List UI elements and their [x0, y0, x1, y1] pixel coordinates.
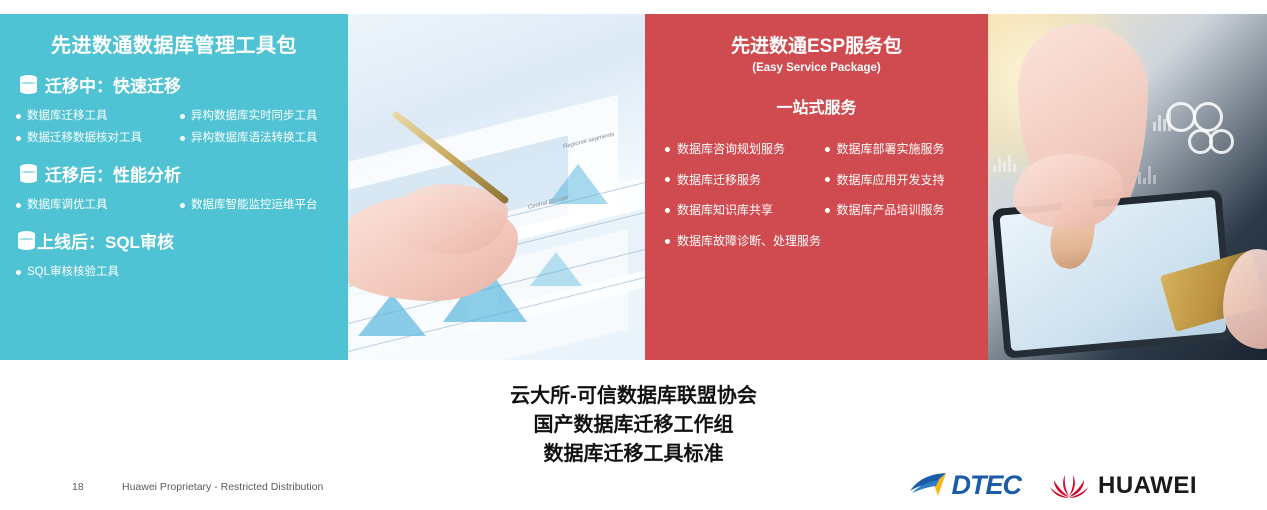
- overlay-ring-icon: [1209, 129, 1234, 154]
- list-item[interactable]: 数据库部署实施服务: [817, 134, 977, 165]
- dtec-arrow-icon: [908, 471, 950, 501]
- bullet-icon: [825, 208, 830, 213]
- photo-hand-touching-tablet-with-data-overlay: [988, 14, 1267, 360]
- dtec-logo: DTEC: [908, 470, 1022, 501]
- database-icon: [20, 164, 37, 184]
- right-panel-subtitle: (Easy Service Package): [657, 62, 976, 74]
- huawei-wordmark: HUAWEI: [1098, 472, 1197, 500]
- list-item[interactable]: 数据库咨询规划服务: [657, 134, 817, 165]
- caption-line-1: 云大所-可信数据库联盟协会: [0, 382, 1267, 411]
- tool-list-migrating: 数据库迁移工具 异构数据库实时同步工具 数据迁移数据核对工具 异构数据库语法转换…: [10, 105, 338, 149]
- bullet-icon: [665, 239, 670, 244]
- list-item[interactable]: 数据迁移数据核对工具: [10, 127, 174, 149]
- caption-block: 云大所-可信数据库联盟协会 国产数据库迁移工作组 数据库迁移工具标准: [0, 382, 1267, 469]
- list-item[interactable]: SQL审核核验工具: [10, 261, 338, 283]
- phase-label: 迁移中：快速迁移: [45, 72, 181, 97]
- service-label: 数据库产品培训服务: [837, 202, 945, 219]
- service-label: 数据库部署实施服务: [837, 141, 945, 158]
- bullet-icon: [16, 114, 21, 119]
- bullet-icon: [16, 270, 21, 275]
- phase-heading-migrating: 迁移中：快速迁移: [20, 72, 338, 97]
- service-label: 数据库咨询规划服务: [677, 141, 785, 158]
- tool-list-after-golive: SQL审核核验工具: [10, 261, 338, 283]
- dtec-wordmark: DTEC: [952, 470, 1022, 501]
- caption-line-3: 数据库迁移工具标准: [0, 440, 1267, 469]
- tool-label: 异构数据库实时同步工具: [191, 108, 318, 124]
- list-item[interactable]: 数据库知识库共享: [657, 195, 817, 226]
- right-panel-title: 先进数通ESP服务包: [657, 36, 976, 59]
- huawei-logo: HUAWEI: [1049, 472, 1197, 500]
- left-panel-title: 先进数通数据库管理工具包: [10, 34, 338, 58]
- database-icon: [20, 75, 37, 95]
- tool-list-after-migration: 数据库调优工具 数据库智能监控运维平台: [10, 194, 338, 216]
- list-item[interactable]: 数据库智能监控运维平台: [174, 194, 338, 216]
- slide-footer: 18 Huawei Proprietary - Restricted Distr…: [0, 478, 1267, 510]
- bullet-icon: [665, 208, 670, 213]
- list-item[interactable]: 数据库产品培训服务: [817, 195, 977, 226]
- confidentiality-notice: Huawei Proprietary - Restricted Distribu…: [122, 481, 323, 493]
- phase-heading-after-migration: 迁移后：性能分析: [20, 161, 338, 186]
- bullet-icon: [16, 203, 21, 208]
- service-label: 数据库故障诊断、处理服务: [677, 233, 821, 250]
- database-icon: [18, 231, 35, 251]
- bullet-icon: [180, 114, 185, 119]
- tool-label: 数据库迁移工具: [27, 108, 108, 124]
- tool-label: 异构数据库语法转换工具: [191, 130, 318, 146]
- list-item[interactable]: 数据库调优工具: [10, 194, 174, 216]
- content-band: 先进数通数据库管理工具包 迁移中：快速迁移 数据库迁移工具 异构数据库实时同步工…: [0, 14, 1267, 360]
- list-item[interactable]: 异构数据库实时同步工具: [174, 105, 338, 127]
- service-list: 数据库咨询规划服务 数据库部署实施服务 数据库迁移服务 数据库应用开发支持 数据…: [657, 134, 976, 257]
- list-item[interactable]: 异构数据库语法转换工具: [174, 127, 338, 149]
- list-item[interactable]: 数据库故障诊断、处理服务: [657, 226, 976, 257]
- tool-label: 数据迁移数据核对工具: [27, 130, 142, 146]
- bullet-icon: [16, 136, 21, 141]
- left-toolkit-panel: 先进数通数据库管理工具包 迁移中：快速迁移 数据库迁移工具 异构数据库实时同步工…: [0, 14, 348, 360]
- service-label: 数据库迁移服务: [677, 172, 761, 189]
- logo-group: DTEC HUAWEI: [908, 470, 1198, 501]
- service-label: 数据库应用开发支持: [837, 172, 945, 189]
- tool-label: 数据库智能监控运维平台: [191, 197, 318, 213]
- right-service-panel: 先进数通ESP服务包 (Easy Service Package) 一站式服务 …: [645, 14, 988, 360]
- caption-line-2: 国产数据库迁移工作组: [0, 411, 1267, 440]
- right-panel-section-heading: 一站式服务: [657, 94, 976, 118]
- bullet-icon: [665, 177, 670, 182]
- bullet-icon: [825, 177, 830, 182]
- huawei-flower-icon: [1049, 472, 1089, 500]
- service-label: 数据库知识库共享: [677, 202, 773, 219]
- photo-hand-writing-with-pen-over-charts: Regional segments Central Europe East Eu…: [348, 14, 645, 360]
- bullet-icon: [180, 203, 185, 208]
- phase-heading-after-golive: 上线后：SQL审核: [18, 228, 338, 253]
- list-item[interactable]: 数据库应用开发支持: [817, 165, 977, 196]
- tool-label: SQL审核核验工具: [27, 264, 119, 280]
- bullet-icon: [825, 147, 830, 152]
- overlay-ring-icon: [1193, 102, 1223, 132]
- bullet-icon: [180, 136, 185, 141]
- bullet-icon: [665, 147, 670, 152]
- page-number: 18: [72, 481, 84, 493]
- list-item[interactable]: 数据库迁移工具: [10, 105, 174, 127]
- list-item[interactable]: 数据库迁移服务: [657, 165, 817, 196]
- phase-label: 迁移后：性能分析: [45, 161, 181, 186]
- phase-label: 上线后：SQL审核: [37, 228, 174, 253]
- tool-label: 数据库调优工具: [27, 197, 108, 213]
